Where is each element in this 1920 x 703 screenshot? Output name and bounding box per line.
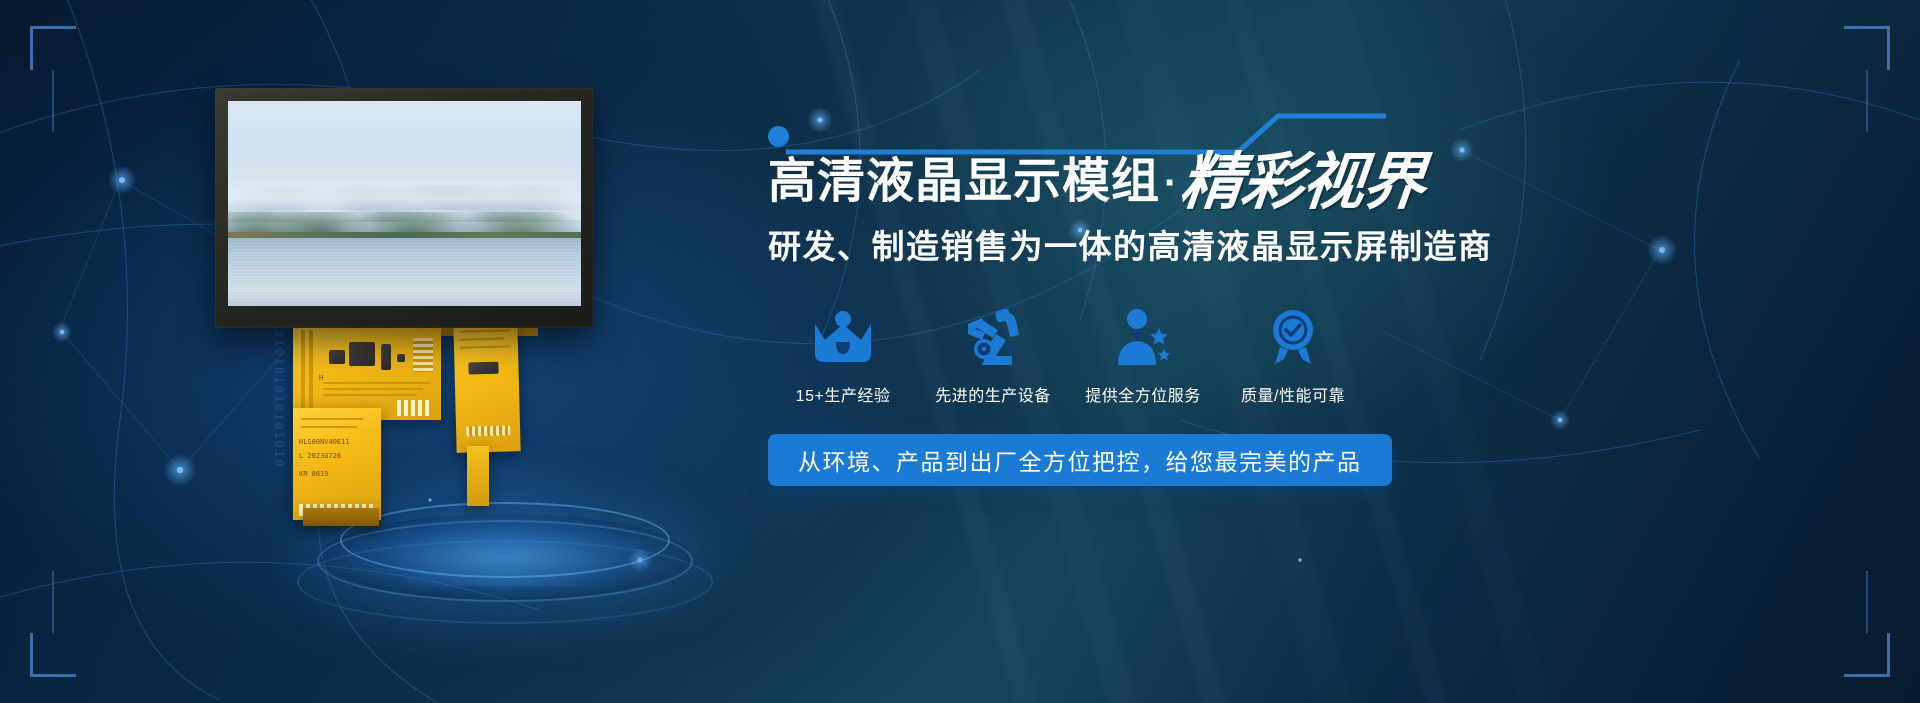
corner-bracket-top-right [1844,26,1890,70]
pcb-label-3: KR 8619 [299,470,329,479]
accent-line-row [768,96,1868,150]
feature-item: 15+生产经验 [768,304,918,406]
banner-content: 高清液晶显示模组 · 精彩视界 研发、制造销售为一体的高清液晶显示屏制造商 15… [768,96,1868,486]
fpc-bottom-connector [303,508,379,526]
bracket-accent-line [1866,571,1868,633]
product-showcase: H HLS00NV40E11 L 2023G726 KR 8619 [215,78,735,548]
screen-lake [228,238,581,306]
lcd-display-module [215,88,593,328]
pcb-label-1: HLS00NV40E11 [299,438,350,447]
feature-label: 提供全方位服务 [1085,382,1201,406]
robot-arm-icon [962,304,1024,366]
fpc-tail [467,446,489,506]
feature-item: 先进的生产设备 [918,304,1068,406]
bracket-accent-line [52,571,54,633]
feature-label: 质量/性能可靠 [1241,382,1345,406]
hero-banner: 010101010101010 [0,0,1920,703]
quality-badge-icon [1264,304,1322,366]
corner-bracket-top-left [30,26,76,70]
feature-label: 15+生产经验 [796,382,891,406]
feature-item: 质量/性能可靠 [1218,304,1368,406]
fpc-right-board [453,321,520,453]
cta-text: 从环境、产品到出厂全方位把控，给您最完美的产品 [798,443,1362,477]
corner-bracket-bottom-left [30,633,76,677]
podium-ring [297,540,713,624]
headline-plain-text: 高清液晶显示模组 [768,156,1160,208]
feature-list: 15+生产经验 [768,304,1368,406]
fpc-main-board: H [293,324,441,420]
cta-banner[interactable]: 从环境、产品到出厂全方位把控，给您最完美的产品 [768,434,1392,486]
fpc-lower-board: HLS00NV40E11 L 2023G726 KR 8619 [293,408,381,520]
pcb-label-2: L 2023G726 [299,452,341,461]
lcd-screen [228,101,581,306]
feature-label: 先进的生产设备 [935,382,1051,406]
corner-bracket-bottom-right [1844,633,1890,677]
bracket-accent-line [52,70,54,132]
service-staff-icon [1112,304,1174,366]
crown-icon [812,304,874,366]
feature-item: 提供全方位服务 [1068,304,1218,406]
subheadline: 研发、制造销售为一体的高清液晶显示屏制造商 [768,220,1868,268]
headline-fancy-text: 精彩视界 [1178,152,1428,212]
